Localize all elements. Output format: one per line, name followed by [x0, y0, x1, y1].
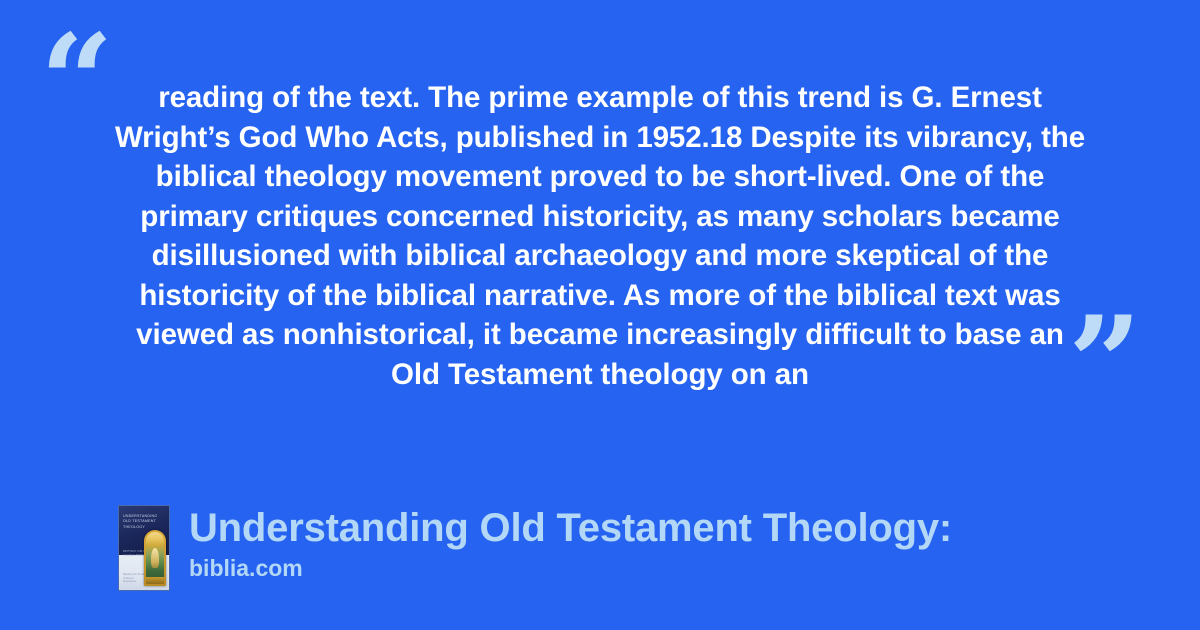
stained-glass-inner [146, 532, 164, 584]
stained-glass-figure [151, 548, 159, 569]
stained-glass-window-icon [144, 530, 166, 586]
site-name[interactable]: biblia.com [189, 555, 952, 581]
quote-card: “ ” reading of the text. The prime examp… [0, 0, 1200, 630]
book-cover-thumbnail: Understanding Old Testament Theology Bri… [118, 505, 170, 591]
open-quote-icon: “ [40, 18, 114, 146]
book-cover-title-text: Understanding Old Testament Theology [123, 514, 157, 530]
book-title: Understanding Old Testament Theology: [189, 505, 952, 551]
footer: Understanding Old Testament Theology Bri… [118, 505, 952, 591]
quote-text-block: reading of the text. The prime example o… [110, 78, 1090, 394]
stained-glass-base [146, 577, 164, 584]
quote-text: reading of the text. The prime example o… [110, 78, 1090, 394]
footer-text-group: Understanding Old Testament Theology: bi… [189, 505, 952, 581]
